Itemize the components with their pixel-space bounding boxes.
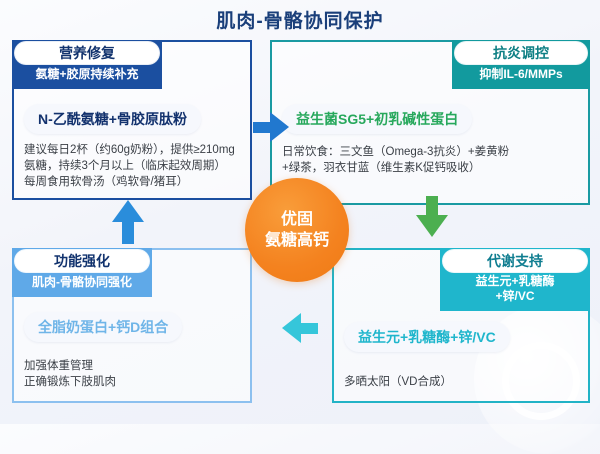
card-header-function-strengthen: 功能强化 肌肉-骨骼协同强化 [12,248,152,297]
card-body-function-strengthen: 全脂奶蛋白+钙D组合 加强体重管理 正确锻炼下肢肌肉 [14,312,250,390]
card-header-anti-inflammatory: 抗炎调控 抑制IL-6/MMPs [452,40,590,89]
card-band-label: 抑制IL-6/MMPs [452,64,590,86]
card-body-nutrition-repair: N-乙酰氨糖+骨胶原肽粉 建议每日2杯（约60g奶粉），提供≥210mg氨糖，持… [14,104,250,190]
card-band-label: 氨糖+胶原持续补充 [12,64,162,86]
card-highlight: N-乙酰氨糖+骨胶原肽粉 [24,104,201,134]
card-anti-inflammatory[interactable]: 抗炎调控 抑制IL-6/MMPs 益生菌SG5+初乳碱性蛋白 日常饮食：三文鱼（… [270,40,590,205]
arrow-up-icon [112,200,144,244]
card-pill-label: 代谢支持 [443,250,587,272]
center-product-badge: 优固 氨糖高钙 [245,178,349,282]
center-badge-line1: 优固 [281,209,313,230]
card-highlight: 益生元+乳糖酶+锌/VC [344,322,510,352]
arrow-left-icon [282,313,318,343]
card-pill-label: 抗炎调控 [455,42,587,64]
card-description: 建议每日2杯（约60g奶粉），提供≥210mg氨糖，持续3个月以上（临床起效周期… [24,142,240,190]
card-pill-label: 功能强化 [15,250,149,272]
card-pill-label: 营养修复 [15,42,159,64]
card-band-label: 肌肉-骨骼协同强化 [12,272,152,294]
card-body-metabolic-support: 益生元+乳糖酶+锌/VC 多晒太阳（VD合成） [334,322,588,390]
card-function-strengthen[interactable]: 功能强化 肌肉-骨骼协同强化 全脂奶蛋白+钙D组合 加强体重管理 正确锻炼下肢肌… [12,248,252,403]
card-metabolic-support[interactable]: 代谢支持 益生元+乳糖酶 +锌/VC 益生元+乳糖酶+锌/VC 多晒太阳（VD合… [332,248,590,403]
card-description: 日常饮食：三文鱼（Omega-3抗炎）+姜黄粉+绿茶，羽衣甘蓝（维生素K促钙吸收… [282,144,518,176]
card-nutrition-repair[interactable]: 营养修复 氨糖+胶原持续补充 N-乙酰氨糖+骨胶原肽粉 建议每日2杯（约60g奶… [12,40,252,200]
card-header-nutrition-repair: 营养修复 氨糖+胶原持续补充 [12,40,162,89]
card-description: 多晒太阳（VD合成） [344,374,578,390]
center-badge-line2: 氨糖高钙 [265,230,329,251]
card-body-anti-inflammatory: 益生菌SG5+初乳碱性蛋白 日常饮食：三文鱼（Omega-3抗炎）+姜黄粉+绿茶… [272,104,588,176]
card-header-metabolic-support: 代谢支持 益生元+乳糖酶 +锌/VC [440,248,590,311]
card-band-label: 益生元+乳糖酶 +锌/VC [440,272,590,308]
page-title: 肌肉-骨骼协同保护 [0,6,600,33]
diagram-canvas: 肌肉-骨骼协同保护 营养修复 氨糖+胶原持续补充 N-乙酰氨糖+骨胶原肽粉 建议… [0,0,600,424]
card-highlight: 全脂奶蛋白+钙D组合 [24,312,182,342]
card-highlight: 益生菌SG5+初乳碱性蛋白 [282,104,472,134]
arrow-right-icon [253,112,289,142]
card-description: 加强体重管理 正确锻炼下肢肌肉 [24,358,240,390]
arrow-down-icon [416,196,448,240]
